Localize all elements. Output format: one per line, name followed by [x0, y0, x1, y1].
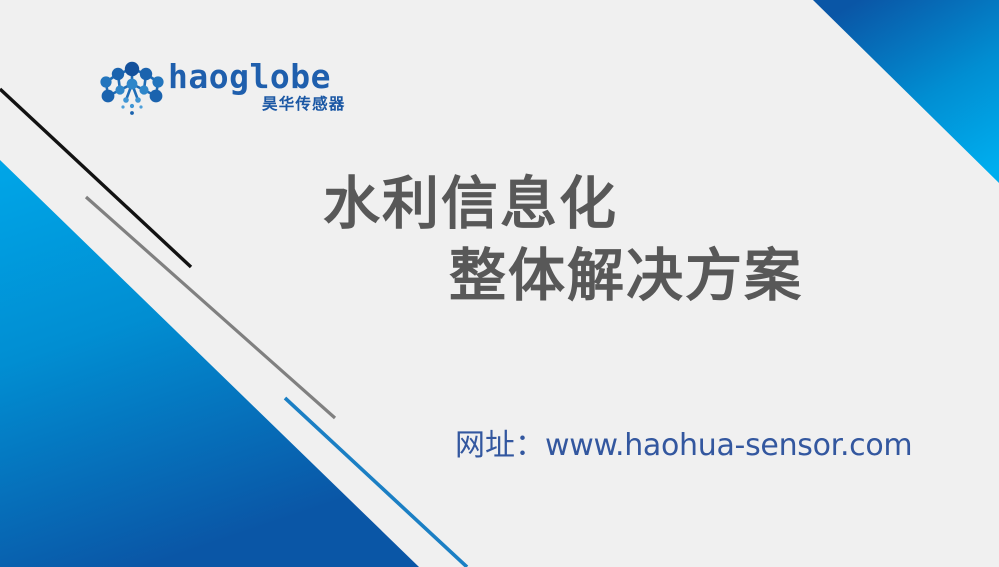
presentation-title-slide: haoglobe 昊华传感器 水利信息化 整体解决方案 网址：www.haohu… — [0, 0, 999, 567]
slide-title-line-1: 水利信息化 — [0, 168, 860, 240]
logo-wordmark: haoglobe — [168, 58, 313, 98]
website-url[interactable]: www.haohua-sensor.com — [545, 428, 912, 463]
logo-wordmark-text: haoglobe — [168, 58, 313, 96]
website-line: 网址：www.haohua-sensor.com — [455, 420, 912, 464]
logo-chinese-name: 昊华传感器 — [262, 95, 346, 115]
slide-title: 水利信息化 整体解决方案 — [0, 168, 860, 312]
slide-title-line-2: 整体解决方案 — [0, 240, 860, 312]
website-label: 网址： — [455, 428, 545, 463]
company-logo: haoglobe 昊华传感器 — [96, 58, 311, 120]
network-nodes-logo-icon — [96, 60, 168, 116]
